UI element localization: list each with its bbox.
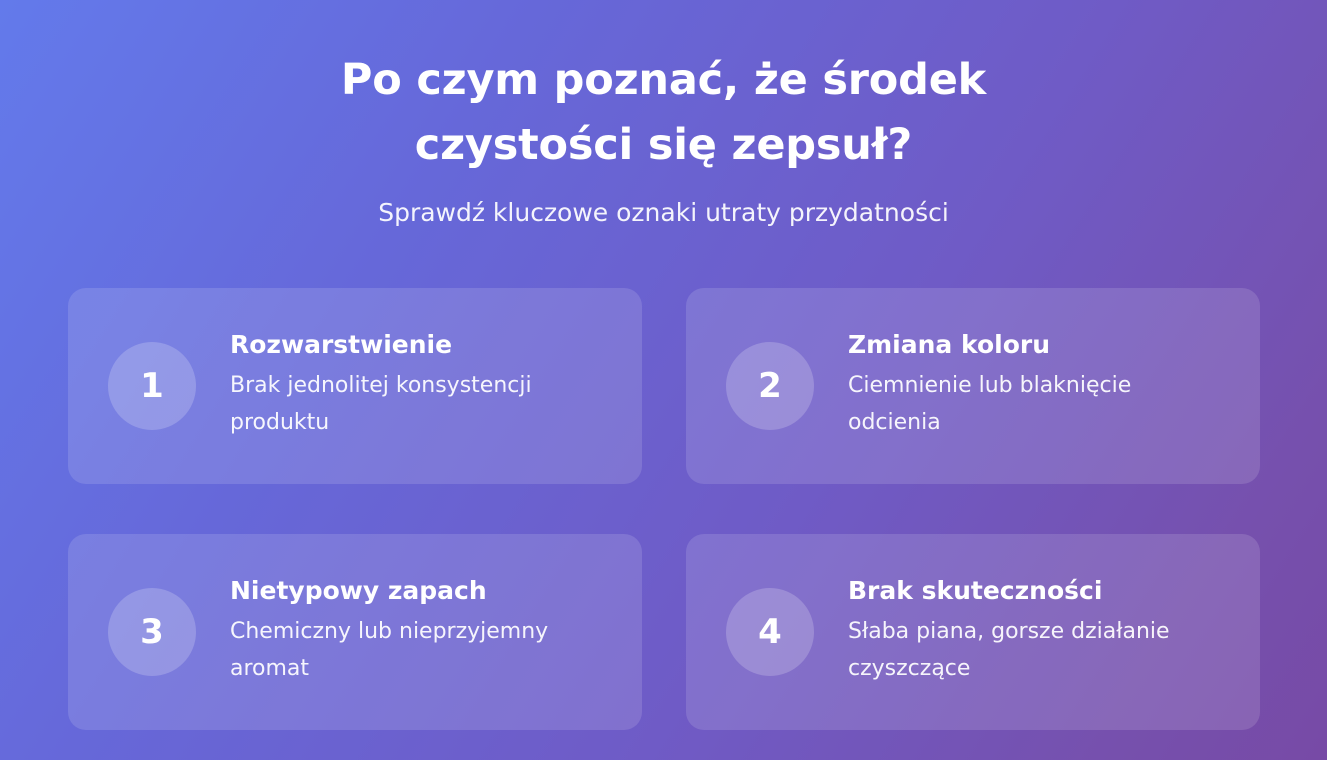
card-body: Zmiana koloru Ciemnienie lub blaknięcie … (848, 329, 1226, 443)
card-title: Nietypowy zapach (230, 575, 608, 607)
header-section: Po czym poznać, że środek czystości się … (0, 0, 1327, 229)
sign-card: 1 Rozwarstwienie Brak jednolitej konsyst… (68, 288, 642, 484)
page-title: Po czym poznać, że środek czystości się … (284, 48, 1044, 178)
page-subtitle: Sprawdź kluczowe oznaki utraty przydatno… (0, 197, 1327, 229)
card-description: Ciemnienie lub blaknięcie odcienia (848, 367, 1226, 441)
sign-card: 4 Brak skuteczności Słaba piana, gorsze … (686, 534, 1260, 730)
slide-root: Po czym poznać, że środek czystości się … (0, 0, 1327, 760)
sign-card: 3 Nietypowy zapach Chemiczny lub nieprzy… (68, 534, 642, 730)
card-description: Chemiczny lub nieprzyjemny aromat (230, 613, 608, 687)
card-number-badge: 4 (726, 588, 814, 676)
card-title: Rozwarstwienie (230, 329, 608, 361)
card-title: Zmiana koloru (848, 329, 1226, 361)
card-body: Brak skuteczności Słaba piana, gorsze dz… (848, 575, 1226, 689)
card-number-badge: 3 (108, 588, 196, 676)
sign-card: 2 Zmiana koloru Ciemnienie lub blaknięci… (686, 288, 1260, 484)
card-description: Słaba piana, gorsze działanie czyszczące (848, 613, 1226, 687)
card-number-badge: 1 (108, 342, 196, 430)
card-number-badge: 2 (726, 342, 814, 430)
page-title-line-1: Po czym poznać, że środek (341, 55, 986, 105)
card-body: Nietypowy zapach Chemiczny lub nieprzyje… (230, 575, 608, 689)
page-title-line-2: czystości się zepsuł? (415, 120, 912, 170)
signs-card-grid: 1 Rozwarstwienie Brak jednolitej konsyst… (68, 288, 1260, 730)
card-body: Rozwarstwienie Brak jednolitej konsysten… (230, 329, 608, 443)
card-title: Brak skuteczności (848, 575, 1226, 607)
card-description: Brak jednolitej konsystencji produktu (230, 367, 608, 441)
